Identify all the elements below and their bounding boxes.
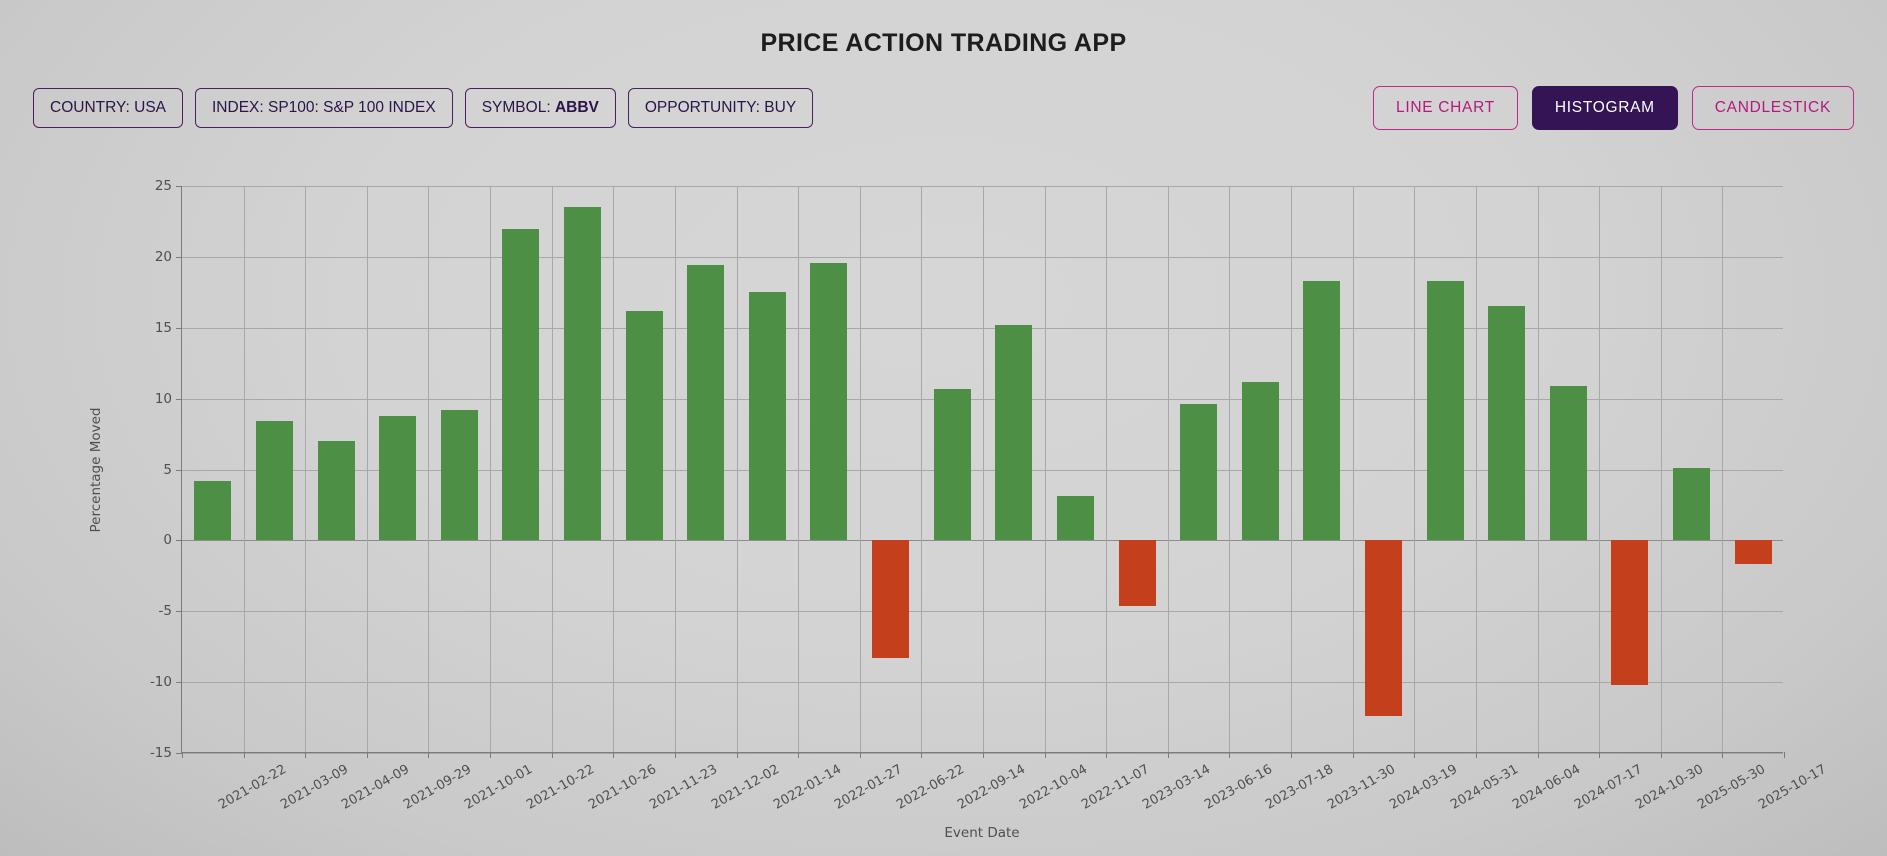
x-gridline	[305, 186, 306, 752]
country-chip-value: USA	[134, 99, 166, 116]
histogram-bar[interactable]	[749, 292, 786, 540]
candlestick-button-label: CANDLESTICK	[1715, 99, 1831, 116]
x-tick-label: 2023-03-14	[1140, 762, 1213, 813]
y-tick-label: 5	[163, 462, 182, 478]
x-tick-mark	[244, 752, 245, 758]
x-tick-mark	[1229, 752, 1230, 758]
x-tick-mark	[1414, 752, 1415, 758]
x-tick-mark	[798, 752, 799, 758]
x-tick-mark	[983, 752, 984, 758]
x-gridline	[921, 186, 922, 752]
histogram-bar[interactable]	[1611, 540, 1648, 685]
x-tick-mark	[367, 752, 368, 758]
x-gridline	[737, 186, 738, 752]
x-gridline	[1106, 186, 1107, 752]
country-chip-prefix: COUNTRY:	[50, 99, 134, 116]
x-tick-label: 2023-07-18	[1264, 762, 1337, 813]
histogram-bar[interactable]	[1488, 306, 1525, 540]
histogram-button-label: HISTOGRAM	[1555, 99, 1655, 116]
x-tick-label: 2023-06-16	[1202, 762, 1275, 813]
y-tick-label: 25	[155, 178, 182, 194]
x-gridline	[244, 186, 245, 752]
x-gridline	[1476, 186, 1477, 752]
x-tick-label: 2025-10-17	[1756, 762, 1829, 813]
x-tick-mark	[1045, 752, 1046, 758]
opportunity-chip-prefix: OPPORTUNITY:	[645, 99, 764, 116]
histogram-bar[interactable]	[1735, 540, 1772, 564]
histogram-bar[interactable]	[1303, 281, 1340, 540]
x-tick-mark	[921, 752, 922, 758]
x-tick-mark	[1291, 752, 1292, 758]
x-gridline	[1168, 186, 1169, 752]
x-tick-mark	[552, 752, 553, 758]
x-tick-label: 2024-07-17	[1572, 762, 1645, 813]
x-tick-label: 2021-09-29	[401, 762, 474, 813]
index-chip-prefix: INDEX:	[212, 99, 268, 116]
page-title: PRICE ACTION TRADING APP	[0, 0, 1887, 58]
histogram-bar[interactable]	[1673, 468, 1710, 540]
histogram-bar[interactable]	[1119, 540, 1156, 605]
histogram-bar[interactable]	[1365, 540, 1402, 716]
opportunity-chip-value: BUY	[764, 99, 796, 116]
opportunity-chip[interactable]: OPPORTUNITY: BUY	[628, 88, 813, 129]
x-gridline	[1722, 186, 1723, 752]
x-tick-label: 2022-10-04	[1017, 762, 1090, 813]
view-mode-button-group: LINE CHARTHISTOGRAMCANDLESTICK	[1373, 86, 1854, 131]
x-tick-mark	[1353, 752, 1354, 758]
x-tick-mark	[675, 752, 676, 758]
histogram-bar[interactable]	[934, 389, 971, 541]
plot-area: 2520151050-5-10-152021-02-222021-03-0920…	[181, 186, 1783, 753]
x-tick-mark	[305, 752, 306, 758]
x-tick-mark	[1106, 752, 1107, 758]
info-chip-group: COUNTRY: USAINDEX: SP100: S&P 100 INDEXS…	[33, 88, 813, 129]
x-tick-mark	[182, 752, 183, 758]
y-tick-label: 15	[155, 320, 182, 336]
histogram-bar[interactable]	[687, 265, 724, 540]
x-tick-label: 2024-05-31	[1448, 762, 1521, 813]
x-tick-label: 2022-06-22	[894, 762, 967, 813]
symbol-chip-value: ABBV	[555, 99, 599, 116]
histogram-bar[interactable]	[379, 416, 416, 541]
x-gridline	[1538, 186, 1539, 752]
x-gridline	[1291, 186, 1292, 752]
x-tick-label: 2021-03-09	[278, 762, 351, 813]
histogram-bar[interactable]	[626, 311, 663, 541]
toolbar: COUNTRY: USAINDEX: SP100: S&P 100 INDEXS…	[0, 80, 1887, 136]
histogram-bar[interactable]	[256, 421, 293, 540]
x-tick-label: 2021-10-22	[524, 762, 597, 813]
histogram-chart: Percentage Moved Event Date 2520151050-5…	[0, 150, 1887, 850]
x-tick-label: 2024-06-04	[1510, 762, 1583, 813]
x-tick-mark	[1599, 752, 1600, 758]
histogram-bar[interactable]	[872, 540, 909, 658]
x-gridline	[367, 186, 368, 752]
x-tick-mark	[1722, 752, 1723, 758]
histogram-bar[interactable]	[502, 229, 539, 541]
line-chart-button-label: LINE CHART	[1396, 99, 1495, 116]
y-tick-label: 10	[155, 391, 182, 407]
x-gridline	[860, 186, 861, 752]
x-tick-mark	[1476, 752, 1477, 758]
x-tick-mark	[1168, 752, 1169, 758]
histogram-bar[interactable]	[1180, 404, 1217, 540]
symbol-chip[interactable]: SYMBOL: ABBV	[465, 88, 616, 129]
x-tick-label: 2021-12-02	[709, 762, 782, 813]
histogram-bar[interactable]	[441, 410, 478, 540]
x-tick-label: 2022-11-07	[1079, 762, 1152, 813]
histogram-bar[interactable]	[1242, 382, 1279, 541]
x-tick-mark	[737, 752, 738, 758]
index-chip-value: SP100: S&P 100 INDEX	[268, 99, 436, 116]
y-tick-label: -15	[150, 745, 182, 761]
x-tick-label: 2022-01-27	[832, 762, 905, 813]
x-tick-mark	[428, 752, 429, 758]
y-tick-label: -5	[159, 603, 182, 619]
x-tick-mark	[1661, 752, 1662, 758]
x-tick-label: 2022-01-14	[771, 762, 844, 813]
y-tick-label: -10	[150, 674, 182, 690]
x-tick-label: 2024-10-30	[1633, 762, 1706, 813]
histogram-bar[interactable]	[194, 481, 231, 541]
line-chart-button[interactable]: LINE CHART	[1373, 86, 1518, 131]
x-gridline	[798, 186, 799, 752]
x-gridline	[1045, 186, 1046, 752]
x-tick-mark	[1784, 752, 1785, 758]
x-gridline	[983, 186, 984, 752]
x-tick-mark	[860, 752, 861, 758]
histogram-bar[interactable]	[1427, 281, 1464, 540]
x-tick-label: 2021-02-22	[216, 762, 289, 813]
x-tick-label: 2021-10-01	[463, 762, 536, 813]
symbol-chip-prefix: SYMBOL:	[482, 99, 555, 116]
histogram-bar[interactable]	[564, 207, 601, 540]
histogram-bar[interactable]	[810, 263, 847, 541]
x-tick-label: 2023-11-30	[1325, 762, 1398, 813]
x-tick-label: 2024-03-19	[1387, 762, 1460, 813]
x-gridline	[675, 186, 676, 752]
candlestick-button[interactable]: CANDLESTICK	[1692, 86, 1854, 131]
y-tick-label: 0	[163, 532, 182, 548]
y-axis-label: Percentage Moved	[88, 407, 104, 532]
x-tick-label: 2021-10-26	[586, 762, 659, 813]
country-chip[interactable]: COUNTRY: USA	[33, 88, 183, 129]
histogram-button[interactable]: HISTOGRAM	[1532, 86, 1678, 131]
x-gridline	[1353, 186, 1354, 752]
x-tick-mark	[1538, 752, 1539, 758]
y-tick-label: 20	[155, 249, 182, 265]
x-gridline	[1661, 186, 1662, 752]
x-tick-label: 2025-05-30	[1695, 762, 1768, 813]
x-gridline	[1414, 186, 1415, 752]
histogram-bar[interactable]	[1057, 496, 1094, 540]
x-tick-label: 2021-04-09	[339, 762, 412, 813]
histogram-bar[interactable]	[1550, 386, 1587, 541]
x-gridline	[1599, 186, 1600, 752]
histogram-bar[interactable]	[995, 325, 1032, 540]
x-axis-label: Event Date	[944, 825, 1019, 841]
x-gridline	[552, 186, 553, 752]
x-tick-mark	[490, 752, 491, 758]
x-gridline	[613, 186, 614, 752]
x-gridline	[428, 186, 429, 752]
x-gridline	[490, 186, 491, 752]
histogram-bar[interactable]	[318, 441, 355, 540]
x-tick-label: 2022-09-14	[955, 762, 1028, 813]
x-tick-label: 2021-11-23	[647, 762, 720, 813]
x-tick-mark	[613, 752, 614, 758]
index-chip[interactable]: INDEX: SP100: S&P 100 INDEX	[195, 88, 453, 129]
x-gridline	[1229, 186, 1230, 752]
